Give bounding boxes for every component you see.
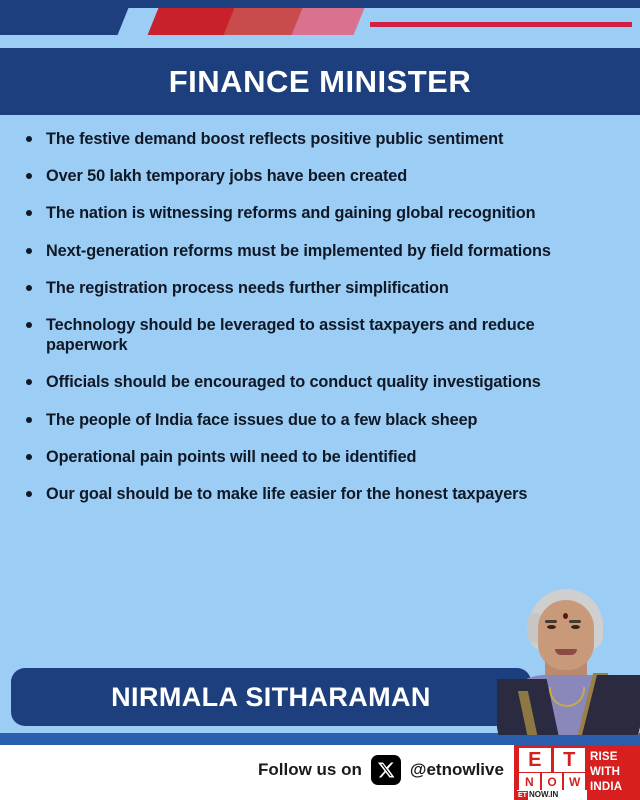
etnow-website-tag: ET — [517, 791, 528, 800]
tagline-line-2: WITH — [590, 765, 640, 780]
list-item-text: The nation is witnessing reforms and gai… — [46, 204, 535, 222]
list-item-text: Over 50 lakh temporary jobs have been cr… — [46, 167, 407, 185]
page-title: FINANCE MINISTER — [169, 64, 472, 100]
list-item-text: Our goal should be to make life easier f… — [46, 485, 527, 503]
bullet-dot-icon — [26, 322, 32, 328]
portrait-eyebrow-right — [569, 620, 581, 623]
bullet-dot-icon — [26, 248, 32, 254]
list-item-text: Next-generation reforms must be implemen… — [46, 242, 551, 260]
etnow-logo-letter-e: E — [519, 748, 551, 772]
minister-portrait-photo — [497, 583, 640, 735]
bullet-dot-icon — [26, 454, 32, 460]
tagline-line-3: INDIA — [590, 780, 640, 795]
portrait-eye-right — [571, 625, 580, 629]
list-item-text: Technology should be leveraged to assist… — [46, 316, 535, 354]
bullet-dot-icon — [26, 417, 32, 423]
list-item: Operational pain points will need to be … — [22, 447, 614, 467]
list-item-text: Operational pain points will need to be … — [46, 448, 416, 466]
top-decor-band — [0, 0, 640, 36]
list-item: The festive demand boost reflects positi… — [22, 129, 614, 149]
bullet-dot-icon — [26, 136, 32, 142]
list-item-text: Officials should be encouraged to conduc… — [46, 373, 541, 391]
list-item-text: The registration process needs further s… — [46, 279, 449, 297]
list-item: Officials should be encouraged to conduc… — [22, 372, 614, 392]
header-bar: FINANCE MINISTER — [0, 48, 640, 115]
list-item: Over 50 lakh temporary jobs have been cr… — [22, 166, 614, 186]
list-item: Next-generation reforms must be implemen… — [22, 241, 614, 261]
etnow-logo-now: N O W — [519, 773, 585, 790]
follow-us-row: Follow us on @etnowlive — [258, 755, 504, 785]
etnow-logo-mark: E T N O W ET NOW.IN — [514, 745, 590, 800]
etnow-logo-letter-t: T — [554, 748, 586, 772]
decor-light-strip — [0, 35, 640, 49]
statement-list: The festive demand boost reflects positi… — [0, 115, 640, 504]
social-handle[interactable]: @etnowlive — [410, 760, 504, 780]
portrait-face — [538, 600, 594, 670]
etnow-logo-letter-n: N — [519, 773, 540, 790]
x-twitter-icon[interactable] — [371, 755, 401, 785]
etnow-logo-letter-w: W — [564, 773, 585, 790]
etnow-logo-letter-o: O — [542, 773, 563, 790]
etnow-logo: E T N O W ET NOW.IN RISE WITH INDIA — [514, 745, 640, 800]
etnow-website-bar: ET NOW.IN — [517, 790, 587, 800]
bullet-dot-icon — [26, 285, 32, 291]
list-item: Our goal should be to make life easier f… — [22, 484, 614, 504]
list-item-text: The people of India face issues due to a… — [46, 411, 477, 429]
follow-us-label: Follow us on — [258, 760, 362, 780]
bullet-dot-icon — [26, 491, 32, 497]
name-banner: NIRMALA SITHARAMAN — [11, 668, 531, 726]
list-item: The registration process needs further s… — [22, 278, 614, 298]
footer: Follow us on @etnowlive E T N O W — [0, 745, 640, 800]
portrait-eyebrow-left — [545, 620, 557, 623]
portrait-bindi — [563, 613, 568, 619]
minister-name: NIRMALA SITHARAMAN — [111, 682, 431, 713]
bullet-dot-icon — [26, 210, 32, 216]
list-item: Technology should be leveraged to assist… — [22, 315, 614, 355]
etnow-tagline: RISE WITH INDIA — [590, 745, 640, 800]
tagline-line-1: RISE — [590, 750, 640, 765]
etnow-logo-et: E T — [519, 748, 585, 772]
bullet-dot-icon — [26, 379, 32, 385]
decor-red-shape-1 — [146, 8, 237, 36]
decor-red-rule — [370, 22, 632, 27]
etnow-website-text: NOW.IN — [528, 791, 558, 799]
list-item: The people of India face issues due to a… — [22, 410, 614, 430]
bullet-dot-icon — [26, 173, 32, 179]
infographic-card: FINANCE MINISTER The festive demand boos… — [0, 0, 640, 800]
portrait-eye-left — [547, 625, 556, 629]
list-item: The nation is witnessing reforms and gai… — [22, 203, 614, 223]
portrait-mouth — [555, 649, 577, 655]
list-item-text: The festive demand boost reflects positi… — [46, 130, 503, 148]
